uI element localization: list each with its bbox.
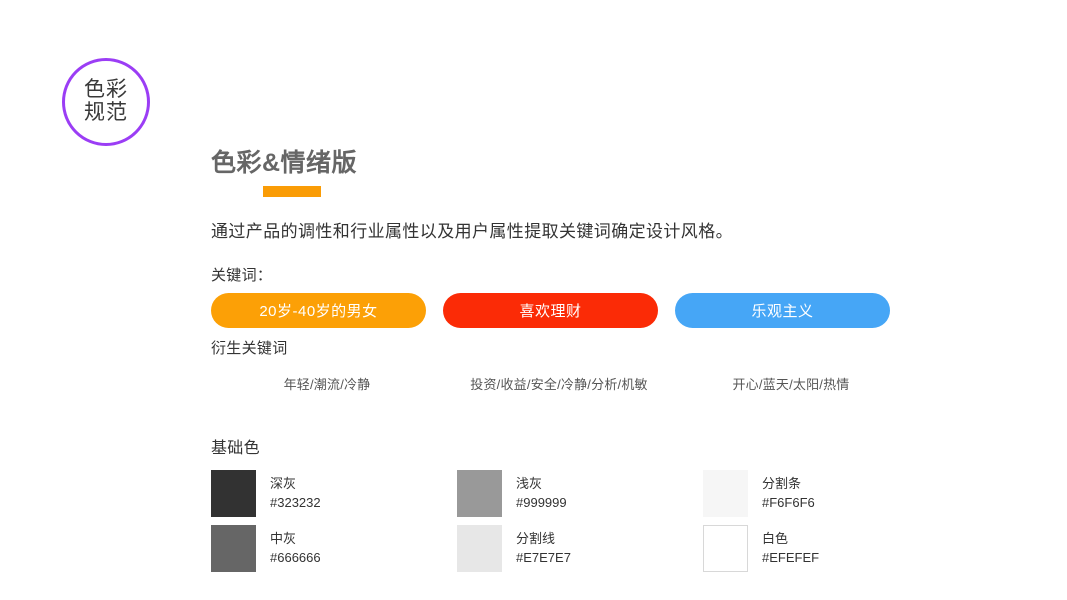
- color-chip: [211, 470, 256, 517]
- swatch-item-light-gray[interactable]: 浅灰 #999999: [457, 470, 703, 517]
- badge-line-1: 色彩: [84, 79, 128, 102]
- derived-keywords-label: 衍生关键词: [211, 337, 1001, 358]
- base-colors-grid: 深灰 #323232 浅灰 #999999 分割条 #F6F6F6: [211, 470, 971, 572]
- swatch-name: 中灰: [270, 530, 321, 549]
- badge-line-2: 规范: [84, 102, 128, 125]
- keywords-label: 关键词：: [211, 264, 1001, 285]
- derived-keyword-row: 年轻/潮流/冷静 投资/收益/安全/冷静/分析/机敏 开心/蓝天/太阳/热情: [211, 374, 921, 393]
- keyword-pill-row: 20岁-40岁的男女 喜欢理财 乐观主义: [211, 293, 906, 328]
- swatch-hex: #666666: [270, 549, 321, 568]
- swatch-caption: 浅灰 #999999: [516, 475, 567, 513]
- swatch-hex: #E7E7E7: [516, 549, 571, 568]
- swatch-item-white[interactable]: 白色 #EFEFEF: [703, 525, 949, 572]
- swatch-item-divider-line[interactable]: 分割线 #E7E7E7: [457, 525, 703, 572]
- swatch-caption: 分割线 #E7E7E7: [516, 530, 571, 568]
- swatch-row: 深灰 #323232 浅灰 #999999 分割条 #F6F6F6: [211, 470, 971, 517]
- swatch-hex: #F6F6F6: [762, 494, 815, 513]
- swatch-name: 白色: [762, 530, 819, 549]
- swatch-name: 浅灰: [516, 475, 567, 494]
- swatch-hex: #323232: [270, 494, 321, 513]
- swatch-name: 分割条: [762, 475, 815, 494]
- keyword-pill-age[interactable]: 20岁-40岁的男女: [211, 293, 426, 328]
- color-chip: [703, 525, 748, 572]
- swatch-hex: #999999: [516, 494, 567, 513]
- swatch-name: 分割线: [516, 530, 571, 549]
- swatch-caption: 白色 #EFEFEF: [762, 530, 819, 568]
- slide-canvas: 色彩 规范 色彩&情绪版 通过产品的调性和行业属性以及用户属性提取关键词确定设计…: [0, 0, 1067, 600]
- keyword-pill-optimism[interactable]: 乐观主义: [675, 293, 890, 328]
- color-chip: [703, 470, 748, 517]
- section-badge: 色彩 规范: [62, 58, 150, 146]
- color-chip: [457, 525, 502, 572]
- swatch-caption: 中灰 #666666: [270, 530, 321, 568]
- page-title: 色彩&情绪版: [211, 148, 1001, 179]
- derived-keyword-age: 年轻/潮流/冷静: [211, 374, 443, 393]
- swatch-row: 中灰 #666666 分割线 #E7E7E7 白色 #EFEFEF: [211, 525, 971, 572]
- swatch-caption: 深灰 #323232: [270, 475, 321, 513]
- derived-keyword-finance: 投资/收益/安全/冷静/分析/机敏: [443, 374, 675, 393]
- swatch-caption: 分割条 #F6F6F6: [762, 475, 815, 513]
- swatch-item-deep-gray[interactable]: 深灰 #323232: [211, 470, 457, 517]
- base-colors-label: 基础色: [211, 434, 1001, 458]
- swatch-name: 深灰: [270, 475, 321, 494]
- lead-paragraph: 通过产品的调性和行业属性以及用户属性提取关键词确定设计风格。: [211, 217, 1001, 242]
- swatch-item-mid-gray[interactable]: 中灰 #666666: [211, 525, 457, 572]
- content-area: 色彩&情绪版 通过产品的调性和行业属性以及用户属性提取关键词确定设计风格。 关键…: [211, 148, 1001, 572]
- color-chip: [457, 470, 502, 517]
- keyword-pill-finance[interactable]: 喜欢理财: [443, 293, 658, 328]
- swatch-item-divider-bar[interactable]: 分割条 #F6F6F6: [703, 470, 949, 517]
- color-chip: [211, 525, 256, 572]
- swatch-hex: #EFEFEF: [762, 549, 819, 568]
- title-underline-bar: [263, 186, 321, 197]
- derived-keyword-optimism: 开心/蓝天/太阳/热情: [675, 374, 907, 393]
